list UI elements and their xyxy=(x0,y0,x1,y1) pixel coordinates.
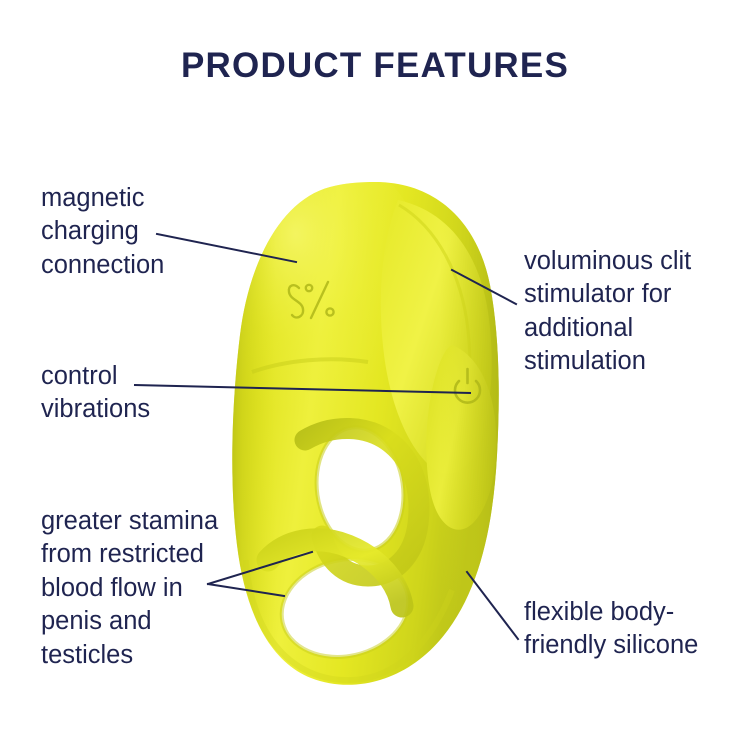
product-features-infographic: PRODUCT FEATURES xyxy=(0,0,750,750)
callout-flexible-body-friendly-silicone: flexible body- friendly silicone xyxy=(524,596,750,663)
callout-greater-stamina: greater stamina from restricted blood fl… xyxy=(41,505,291,672)
callout-control-vibrations: control vibrations xyxy=(41,360,281,427)
callout-voluminous-clit-stimulator: voluminous clit stimulator for additiona… xyxy=(524,245,749,379)
callout-magnetic-charging-connection: magnetic charging connection xyxy=(41,182,281,282)
